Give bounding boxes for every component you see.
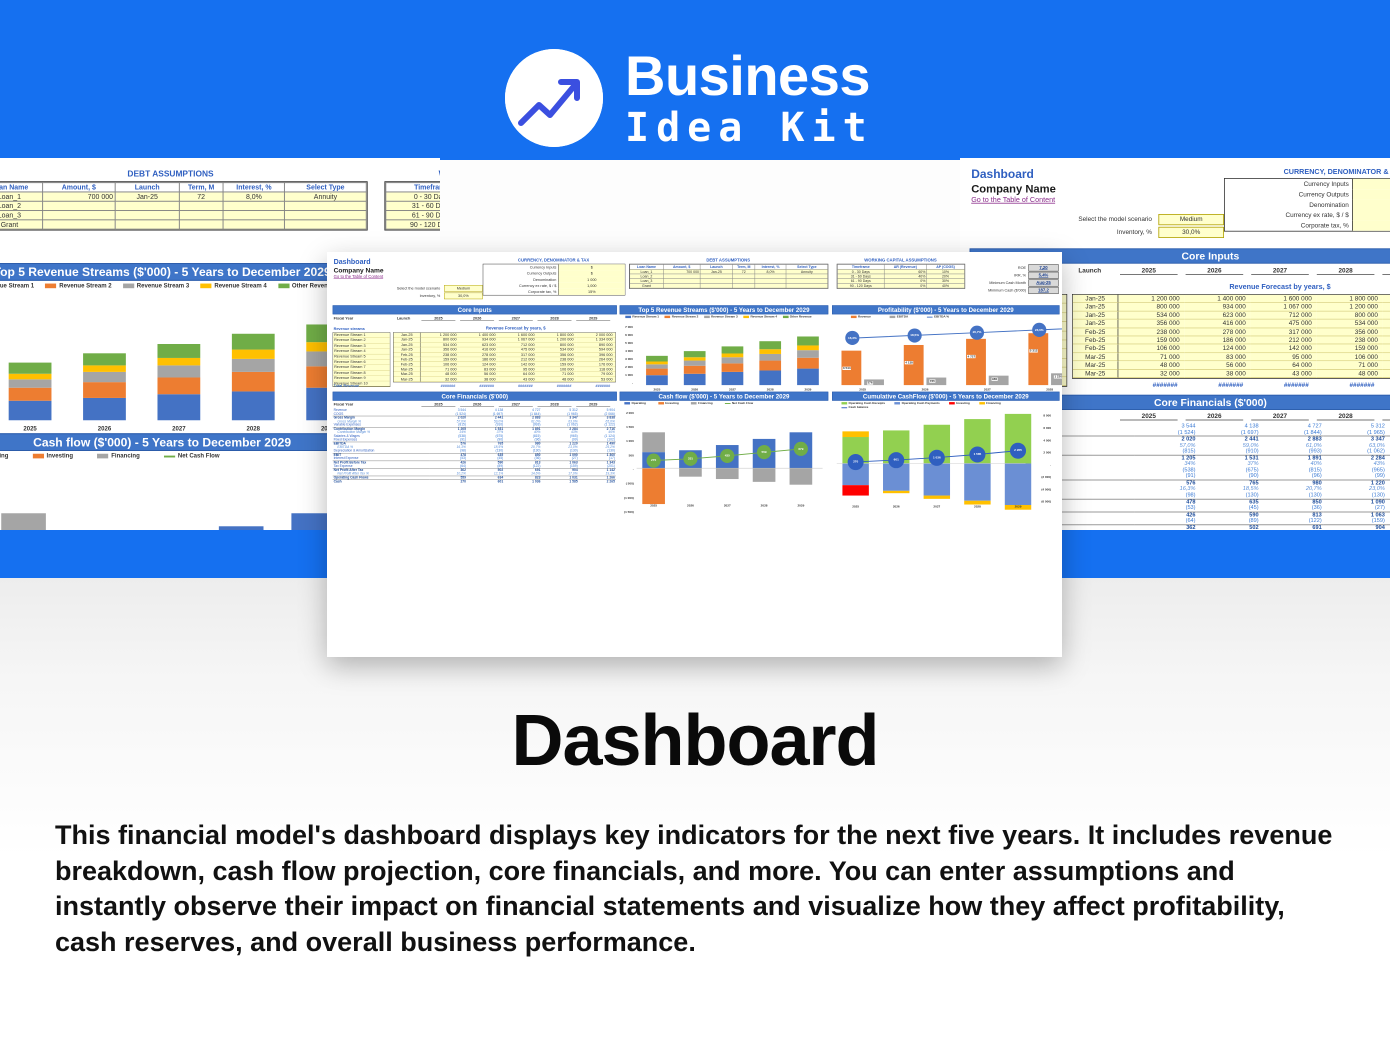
- y-tick: 500: [618, 454, 634, 457]
- table-row[interactable]: Loan_3: [0, 211, 366, 220]
- bar-revenue-label: 4 138: [905, 361, 914, 364]
- stream-year-value[interactable]: 1 800 000: [1317, 295, 1383, 303]
- currency-row-value[interactable]: 1 000: [1352, 200, 1390, 210]
- table-cell[interactable]: [179, 220, 223, 229]
- stacked-bar-segment: [232, 350, 275, 359]
- cf-year: 2028: [538, 402, 572, 407]
- col-header: Term, M: [179, 183, 223, 192]
- y-tick: 5 000: [620, 342, 633, 345]
- total-revenue-value: #######: [421, 384, 455, 388]
- currency-row[interactable]: Currency Outputs$: [1225, 189, 1390, 199]
- currency-row[interactable]: Currency ex rate, $ / $1,000: [1225, 210, 1390, 220]
- stacked-bar-segment: [646, 369, 668, 376]
- cf-fiscal-year-label: Fiscal Year: [334, 402, 354, 406]
- inventory-label: Inventory, %: [992, 228, 1152, 235]
- stacked-bar-segment: [797, 369, 819, 385]
- table-row[interactable]: Grant: [630, 283, 828, 288]
- table-cell[interactable]: Loan_3: [0, 211, 42, 220]
- stream-year-value[interactable]: 238 000: [1118, 328, 1184, 336]
- cf-row-value: 502: [1197, 525, 1260, 530]
- legend-item: Revenue Stream 2: [665, 315, 699, 318]
- stream-year-value[interactable]: 64 000: [1251, 361, 1317, 369]
- bar-financing: [642, 433, 665, 453]
- kpi-row: Minimum Cash MonthAug-25: [974, 279, 1059, 286]
- x-tick: 2029: [1005, 505, 1031, 508]
- company-name: Company Name: [334, 266, 384, 274]
- table-cell[interactable]: [42, 201, 115, 210]
- stacked-bar-segment: [646, 375, 668, 385]
- table-cell[interactable]: [179, 201, 223, 210]
- core-inputs-year: 2028: [1317, 267, 1375, 275]
- table-cell[interactable]: [179, 211, 223, 220]
- stream-launch[interactable]: Mar-25: [1073, 361, 1119, 369]
- stream-year-value[interactable]: 800 000: [1118, 303, 1184, 311]
- stream-year-value[interactable]: 56 000: [1184, 361, 1250, 369]
- stream-year-value[interactable]: 1 334 000: [1383, 303, 1390, 311]
- y-tick: 1 500: [618, 426, 634, 429]
- fiscal-year-label: Fiscal Year: [334, 316, 354, 320]
- currency-row[interactable]: Currency Inputs$: [1225, 179, 1390, 189]
- table-cell[interactable]: 40%: [927, 283, 965, 288]
- stacked-bar-segment: [157, 377, 200, 394]
- stream-launch[interactable]: Feb-25: [1073, 336, 1119, 344]
- cashflow-legend: OperatingInvestingFinancingNet Cash Flow: [0, 453, 357, 460]
- stacked-bar-segment: [797, 358, 819, 369]
- stream-year-value[interactable]: 800 000: [1317, 311, 1383, 319]
- core-inputs-year: 2029: [576, 316, 610, 321]
- table-cell[interactable]: [285, 220, 367, 229]
- stream-launch[interactable]: Feb-25: [1073, 328, 1119, 336]
- stacked-bar-segment: [232, 391, 275, 420]
- stream-year-value[interactable]: 32 000: [1118, 370, 1184, 378]
- stream-year-value[interactable]: 2 000 000: [1383, 295, 1390, 303]
- legend-item: EBITDA: [890, 315, 909, 318]
- cf-row-value: 270: [430, 480, 467, 484]
- stream-year-value[interactable]: 83 000: [1184, 353, 1250, 361]
- table-cell[interactable]: [223, 201, 284, 210]
- total-revenue-value: #######: [1382, 381, 1390, 388]
- legend-item: Operating: [624, 402, 646, 405]
- stream-year-value[interactable]: 212 000: [1251, 336, 1317, 344]
- currency-panel-title: CURRENCY, DENOMINATOR & TAX: [1224, 168, 1390, 176]
- legend-item: Revenue Stream 1: [625, 315, 659, 318]
- cash-balance-bubble: 601: [888, 452, 904, 468]
- stacked-bar-segment: [759, 349, 781, 353]
- stacked-bar-segment: [646, 364, 668, 368]
- table-cell[interactable]: [786, 283, 827, 288]
- stacked-bar-segment: [83, 366, 126, 373]
- stacked-bar-segment: [157, 365, 200, 377]
- y-tick: (4 000): [1030, 488, 1051, 491]
- legend-item: Investing: [658, 402, 679, 405]
- working-capital-table[interactable]: TimeframeAR (Revenue)AP (COGS)0 - 30 Day…: [385, 182, 440, 229]
- bar-revenue: [966, 339, 986, 385]
- net-cash-flow-bubble: 270: [647, 453, 661, 467]
- kpi-label: IRR, %: [974, 272, 1029, 279]
- inventory-label: Inventory, %: [346, 294, 440, 298]
- table-cell[interactable]: Grant: [630, 283, 663, 288]
- legend-item: Revenue Stream 2: [45, 283, 111, 290]
- stacked-bar-segment: [157, 358, 200, 366]
- net-cash-flow-bubble: 435: [720, 449, 734, 463]
- table-cell[interactable]: [663, 283, 700, 288]
- y-tick: 4 000: [620, 350, 633, 353]
- stream-year-value[interactable]: 71 000: [1118, 353, 1184, 361]
- revenue-forecast-row[interactable]: Mar-2571 00083 00095 000106 000118 000: [1073, 353, 1390, 361]
- table-cell[interactable]: [42, 211, 115, 220]
- cf-row-value: 691: [1260, 525, 1323, 530]
- legend-item: Investing: [33, 453, 73, 460]
- stream-launch[interactable]: Jan-25: [1073, 311, 1119, 319]
- stream-year-value[interactable]: 1 400 000: [1184, 295, 1250, 303]
- cf-year: 2025: [1120, 412, 1178, 420]
- revenue-forecast-row[interactable]: Mar-2548 00056 00064 00071 00079 000: [1073, 361, 1390, 369]
- table-row[interactable]: 90 - 120 Days0%40%: [837, 283, 964, 288]
- currency-row-label: Corporate tax, %: [1225, 220, 1352, 230]
- page-description: This financial model's dashboard display…: [55, 818, 1340, 961]
- revenue-forecast-row[interactable]: Jan-25534 000623 000712 000800 000890 00…: [1073, 311, 1390, 319]
- cf-row-value: 1 036: [504, 480, 541, 484]
- stream-year-value[interactable]: 934 000: [1184, 303, 1250, 311]
- table-cell[interactable]: 0%: [884, 283, 927, 288]
- table-row[interactable]: Loan_2: [0, 201, 366, 210]
- profitability-band: Profitability ($'000) - 5 Years to Decem…: [832, 305, 1060, 314]
- cf-year: 2029: [1382, 412, 1390, 420]
- bar-revenue-label: 4 727: [967, 355, 976, 358]
- stacked-bar-segment: [157, 344, 200, 358]
- bar-ebitda-label: 765: [929, 380, 935, 383]
- stacked-bar-segment: [684, 357, 706, 360]
- cash-balance-bubble: 270: [848, 454, 864, 470]
- stacked-bar-segment: [722, 346, 744, 353]
- table-cell[interactable]: Annuity: [285, 192, 367, 201]
- y-tick: (1 000): [618, 496, 634, 499]
- stream-year-value[interactable]: 142 000: [1251, 345, 1317, 353]
- stream-year-value[interactable]: 278 000: [1184, 328, 1250, 336]
- x-tick: 2025: [642, 504, 665, 507]
- table-cell[interactable]: [115, 201, 179, 210]
- table-cell[interactable]: Grant: [0, 220, 42, 229]
- stream-year-value[interactable]: 43 000: [1251, 370, 1317, 378]
- total-revenue-value: #######: [1186, 381, 1244, 388]
- revenue-forecast-title: Revenue Forecast by years, $: [1112, 283, 1390, 291]
- profitability-legend: RevenueEBITDAEBITDA %: [851, 315, 1054, 318]
- cashflow-band: Cash flow ($'000) - 5 Years to December …: [620, 392, 829, 401]
- kpi-value: 7,20: [1028, 264, 1058, 271]
- table-row[interactable]: 90 - 120 Days0%40%: [386, 220, 440, 229]
- legend-item: Revenue: [851, 315, 871, 318]
- bar-investing: [642, 468, 665, 504]
- stream-year-value[interactable]: 712 000: [1251, 311, 1317, 319]
- stacked-bar-segment: [9, 379, 52, 388]
- currency-row-value[interactable]: 15%: [1352, 220, 1390, 230]
- table-cell[interactable]: 72: [179, 192, 223, 201]
- kpi-value: 5,4%: [1028, 272, 1058, 279]
- cf-row-value: 601: [467, 480, 504, 484]
- revenue-forecast-row[interactable]: Mar-2532 00038 00043 00048 00053 000: [394, 377, 616, 382]
- stream-launch[interactable]: Mar-25: [1073, 370, 1119, 378]
- table-cell[interactable]: [700, 283, 732, 288]
- revenue-forecast-row[interactable]: Jan-25800 000934 0001 067 0001 200 0001 …: [1073, 303, 1390, 311]
- y-tick: 6 000: [620, 334, 633, 337]
- cumulative-cashflow-band: Cumulative CashFlow ($'000) - 5 Years to…: [832, 392, 1060, 401]
- total-revenue-value: #######: [1120, 381, 1178, 388]
- stream-year-value[interactable]: 38 000: [459, 377, 498, 382]
- table-row[interactable]: 61 - 90 Days0%30%: [386, 211, 440, 220]
- currency-row[interactable]: Corporate tax, %15%: [483, 289, 625, 295]
- table-row[interactable]: 0 - 30 Days60%10%: [386, 192, 440, 201]
- revenue-forecast-title: Revenue Forecast by years, $: [417, 326, 615, 331]
- y-tick: 8 000: [1030, 414, 1051, 417]
- table-cell[interactable]: 90 - 120 Days: [837, 283, 884, 288]
- x-tick: 2028: [964, 505, 990, 508]
- revenue-forecast-row[interactable]: Jan-25356 000416 000475 000534 000594 00…: [1073, 320, 1390, 328]
- x-tick: 2025: [842, 505, 868, 508]
- currency-row-value[interactable]: $: [1352, 189, 1390, 199]
- bar-financing: [1, 514, 46, 530]
- y-tick: 1 000: [618, 440, 634, 443]
- stream-year-value[interactable]: 106 000: [1118, 345, 1184, 353]
- col-header: Interest, %: [223, 183, 284, 192]
- inventory-input[interactable]: 30,0%: [1158, 227, 1224, 238]
- stream-year-value[interactable]: 396 000: [1383, 328, 1390, 336]
- table-cell[interactable]: [115, 220, 179, 229]
- stream-year-value[interactable]: 238 000: [1317, 336, 1383, 344]
- total-revenue-value: #######: [1317, 381, 1375, 388]
- core-inputs-year: 2029: [1382, 267, 1390, 275]
- revenue-forecast-row[interactable]: Feb-25159 000186 000212 000238 000264 00…: [1073, 336, 1390, 344]
- page-title: Dashboard: [0, 700, 1390, 782]
- table-cell[interactable]: [115, 211, 179, 220]
- table-cell[interactable]: [223, 211, 284, 220]
- col-header: Select Type: [285, 183, 367, 192]
- stream-year-value[interactable]: 118 000: [1383, 353, 1390, 361]
- table-of-content-link[interactable]: Go to the Table of Content: [334, 274, 384, 279]
- stream-year-value[interactable]: 48 000: [537, 377, 576, 382]
- table-of-content-link[interactable]: Go to the Table of Content: [971, 196, 1055, 204]
- stream-year-value[interactable]: 534 000: [1118, 311, 1184, 319]
- kpi-panel[interactable]: ROE7,20IRR, %5,4%Minimum Cash MonthAug-2…: [974, 264, 1059, 294]
- y-tick: 1 000: [620, 374, 633, 377]
- y-tick: 4 000: [1030, 439, 1051, 442]
- stream-year-value[interactable]: 159 000: [1118, 336, 1184, 344]
- bar-revenue-label: 3 544: [842, 367, 851, 370]
- revenue-forecast-row[interactable]: Feb-25106 000124 000142 000159 000176 00…: [1073, 345, 1390, 353]
- legend-item: Financing: [97, 453, 140, 460]
- stream-year-value[interactable]: 71 000: [1317, 361, 1383, 369]
- bar-operating: [219, 526, 264, 530]
- stream-year-value[interactable]: 95 000: [1251, 353, 1317, 361]
- bar-operating-payments: [1005, 463, 1031, 504]
- stream-year-value[interactable]: 38 000: [1184, 370, 1250, 378]
- cash-balance-bubble: 1 036: [929, 450, 945, 466]
- table-cell[interactable]: [285, 211, 367, 220]
- legend-item: Operating Cash Payments: [894, 402, 939, 405]
- bar-operating-payments: [924, 463, 950, 495]
- stream-year-value[interactable]: 79 000: [1383, 361, 1390, 369]
- stacked-bar-segment: [797, 345, 819, 350]
- table-cell[interactable]: Loan_1: [0, 192, 42, 201]
- revenue-forecast-row[interactable]: Feb-25238 000278 000317 000356 000396 00…: [1073, 328, 1390, 336]
- cf-row[interactable]: Cash2706011 0361 5852 265: [333, 480, 616, 484]
- table-cell[interactable]: [42, 220, 115, 229]
- stream-year-value[interactable]: 32 000: [420, 377, 459, 382]
- currency-row-value[interactable]: 1,000: [1352, 210, 1390, 220]
- table-cell[interactable]: [755, 283, 786, 288]
- stream-year-value[interactable]: 1 600 000: [1251, 295, 1317, 303]
- stream-year-value[interactable]: 1 067 000: [1251, 303, 1317, 311]
- stream-year-value[interactable]: 475 000: [1251, 320, 1317, 328]
- table-row[interactable]: Loan_1700 000Jan-25728,0%Annuity: [0, 192, 366, 201]
- x-tick: 2027: [716, 504, 739, 507]
- core-inputs-band: Core Inputs: [333, 305, 617, 314]
- bar-revenue-label: 5 312: [1029, 349, 1038, 352]
- y-tick: 3 000: [620, 358, 633, 361]
- legend-item: EBITDA %: [927, 315, 949, 318]
- legend-item: Revenue Stream 3: [123, 283, 189, 290]
- bar-financing: [716, 468, 739, 479]
- currency-row-label: Currency Inputs: [1225, 179, 1352, 189]
- stream-launch[interactable]: Mar-25: [1073, 353, 1119, 361]
- cf-year: 2025: [421, 402, 455, 407]
- table-cell[interactable]: 8,0%: [223, 192, 284, 201]
- currency-row-label: Currency Outputs: [1225, 189, 1352, 199]
- cashflow-band: Cash flow ($'000) - 5 Years to December …: [0, 433, 368, 451]
- y-tick: 2 000: [1030, 451, 1051, 454]
- stream-launch[interactable]: Jan-25: [1073, 320, 1119, 328]
- table-cell[interactable]: [285, 201, 367, 210]
- total-revenue-value: #######: [460, 384, 494, 388]
- stacked-bar-segment: [684, 361, 706, 366]
- scenario-select[interactable]: Medium: [1158, 214, 1224, 225]
- core-inputs-year: 2026: [1186, 267, 1244, 275]
- net-cash-flow-bubble: 679: [794, 442, 808, 456]
- table-cell[interactable]: 61 - 90 Days: [386, 211, 440, 220]
- stream-year-value[interactable]: 264 000: [1383, 336, 1390, 344]
- currency-row[interactable]: Denomination1 000: [1225, 200, 1390, 210]
- dashboard-title: Dashboard: [971, 168, 1034, 182]
- table-row[interactable]: Grant: [0, 220, 366, 229]
- currency-row[interactable]: Corporate tax, %15%: [1225, 220, 1390, 230]
- stacked-bar-segment: [232, 372, 275, 391]
- table-cell[interactable]: Jan-25: [115, 192, 179, 201]
- stream-year-value[interactable]: 356 000: [1118, 320, 1184, 328]
- stream-year-value[interactable]: 159 000: [1317, 345, 1383, 353]
- stream-year-value[interactable]: 317 000: [1251, 328, 1317, 336]
- core-inputs-year: 2028: [538, 316, 572, 321]
- col-header: Launch: [115, 183, 179, 192]
- y-tick: -: [620, 382, 633, 385]
- core-financials-table[interactable]: Revenue3 5444 1384 7275 3125 904COGS(1 5…: [333, 409, 616, 484]
- stream-year-value[interactable]: 48 000: [1317, 370, 1383, 378]
- dashboard-screenshot-main[interactable]: DashboardCompany NameGo to the Table of …: [327, 252, 1062, 657]
- debt-assumptions-table[interactable]: Loan NameAmount, $LaunchTerm, MInterest,…: [630, 264, 828, 288]
- core-inputs-year: 2027: [499, 316, 533, 321]
- stream-year-value[interactable]: 534 000: [1317, 320, 1383, 328]
- currency-row-value[interactable]: $: [1352, 179, 1390, 189]
- total-revenue-value: #######: [1251, 381, 1309, 388]
- stream-year-value[interactable]: 106 000: [1317, 353, 1383, 361]
- stream-year-value[interactable]: 53 000: [1383, 370, 1390, 378]
- kpi-row: Minimum Cash ($'000)187,2: [974, 287, 1059, 294]
- total-revenue-value: #######: [538, 384, 572, 388]
- revenue-streams-label: Revenue streams: [334, 327, 365, 331]
- x-tick: 2026: [83, 426, 126, 433]
- stream-year-value[interactable]: 43 000: [498, 377, 537, 382]
- debt-assumptions-table[interactable]: Loan NameAmount, $LaunchTerm, MInterest,…: [0, 182, 367, 229]
- legend-item: Financing: [979, 402, 1001, 405]
- scenario-select[interactable]: Medium: [444, 285, 483, 292]
- stream-year-value[interactable]: 53 000: [576, 377, 615, 382]
- ebitda-pct-bubble: 23,0%: [1032, 323, 1046, 337]
- table-cell[interactable]: 700 000: [42, 192, 115, 201]
- revenue-forecast-row[interactable]: Mar-2532 00038 00043 00048 00053 000: [1073, 370, 1390, 378]
- stream-launch[interactable]: Jan-25: [1073, 295, 1119, 303]
- stream-year-value[interactable]: 356 000: [1317, 328, 1383, 336]
- stacked-bar-segment: [684, 351, 706, 357]
- legend-item: Net Cash Flow: [725, 402, 753, 405]
- table-cell[interactable]: [223, 220, 284, 229]
- legend-item: Financing: [691, 402, 713, 405]
- stream-year-value[interactable]: 1 200 000: [1317, 303, 1383, 311]
- stream-year-value[interactable]: 890 000: [1383, 311, 1390, 319]
- table-row[interactable]: 31 - 60 Days40%20%: [386, 201, 440, 210]
- stacked-bar-segment: [722, 353, 744, 357]
- cf-year: 2026: [460, 402, 494, 407]
- working-capital-table[interactable]: TimeframeAR (Revenue)AP (COGS)0 - 30 Day…: [837, 264, 964, 288]
- stream-year-value[interactable]: 124 000: [1184, 345, 1250, 353]
- stacked-bar-segment: [646, 356, 668, 361]
- stream-launch[interactable]: Feb-25: [1073, 345, 1119, 353]
- wc-panel-title: WORKING CAPITAL ASSUMPTIONS: [837, 258, 964, 263]
- y-tick: ( 500): [618, 482, 634, 485]
- stacked-bar-segment: [157, 394, 200, 420]
- table-cell[interactable]: 90 - 120 Days: [386, 220, 440, 229]
- stream-year-value[interactable]: 1 200 000: [1118, 295, 1184, 303]
- inventory-input[interactable]: 30,0%: [444, 293, 483, 300]
- x-tick: 2028: [232, 426, 275, 433]
- revenue-forecast-row[interactable]: Jan-251 200 0001 400 0001 600 0001 800 0…: [1073, 295, 1390, 303]
- table-cell[interactable]: Loan_2: [0, 201, 42, 210]
- wc-panel-title: WORKING CAPITAL ASSUMPTIONS: [384, 169, 440, 178]
- stream-launch[interactable]: Jan-25: [1073, 303, 1119, 311]
- top5-revenue-legend: Revenue Stream 1Revenue Stream 2Revenue …: [0, 283, 358, 290]
- bar-financing: [842, 431, 868, 437]
- x-tick: 2026: [679, 504, 702, 507]
- stream-year-value[interactable]: 176 000: [1383, 345, 1390, 353]
- stream-year-value[interactable]: 416 000: [1184, 320, 1250, 328]
- table-cell[interactable]: 31 - 60 Days: [386, 201, 440, 210]
- stacked-bar-segment: [797, 350, 819, 357]
- core-financials-band: Core Financials ($'000): [333, 392, 617, 401]
- stream-year-value[interactable]: 48 000: [1118, 361, 1184, 369]
- table-cell[interactable]: [733, 283, 755, 288]
- bar-financing: [790, 468, 813, 485]
- company-name: Company Name: [971, 182, 1056, 195]
- top5-revenue-legend: Revenue Stream 1Revenue Stream 2Revenue …: [625, 315, 823, 318]
- stacked-bar-segment: [83, 398, 126, 421]
- table-cell[interactable]: 0 - 30 Days: [386, 192, 440, 201]
- stream-year-value[interactable]: 186 000: [1184, 336, 1250, 344]
- stream-year-value[interactable]: 623 000: [1184, 311, 1250, 319]
- stream-year-value[interactable]: 594 000: [1383, 320, 1390, 328]
- bar-revenue: [1028, 333, 1048, 385]
- stacked-bar-segment: [684, 374, 706, 386]
- cf-year: 2026: [1186, 412, 1244, 420]
- ebitda-pct-bubble: 20,7%: [970, 326, 984, 340]
- stream-launch[interactable]: Mar-25: [394, 377, 421, 382]
- currency-row-value[interactable]: 15%: [558, 289, 625, 295]
